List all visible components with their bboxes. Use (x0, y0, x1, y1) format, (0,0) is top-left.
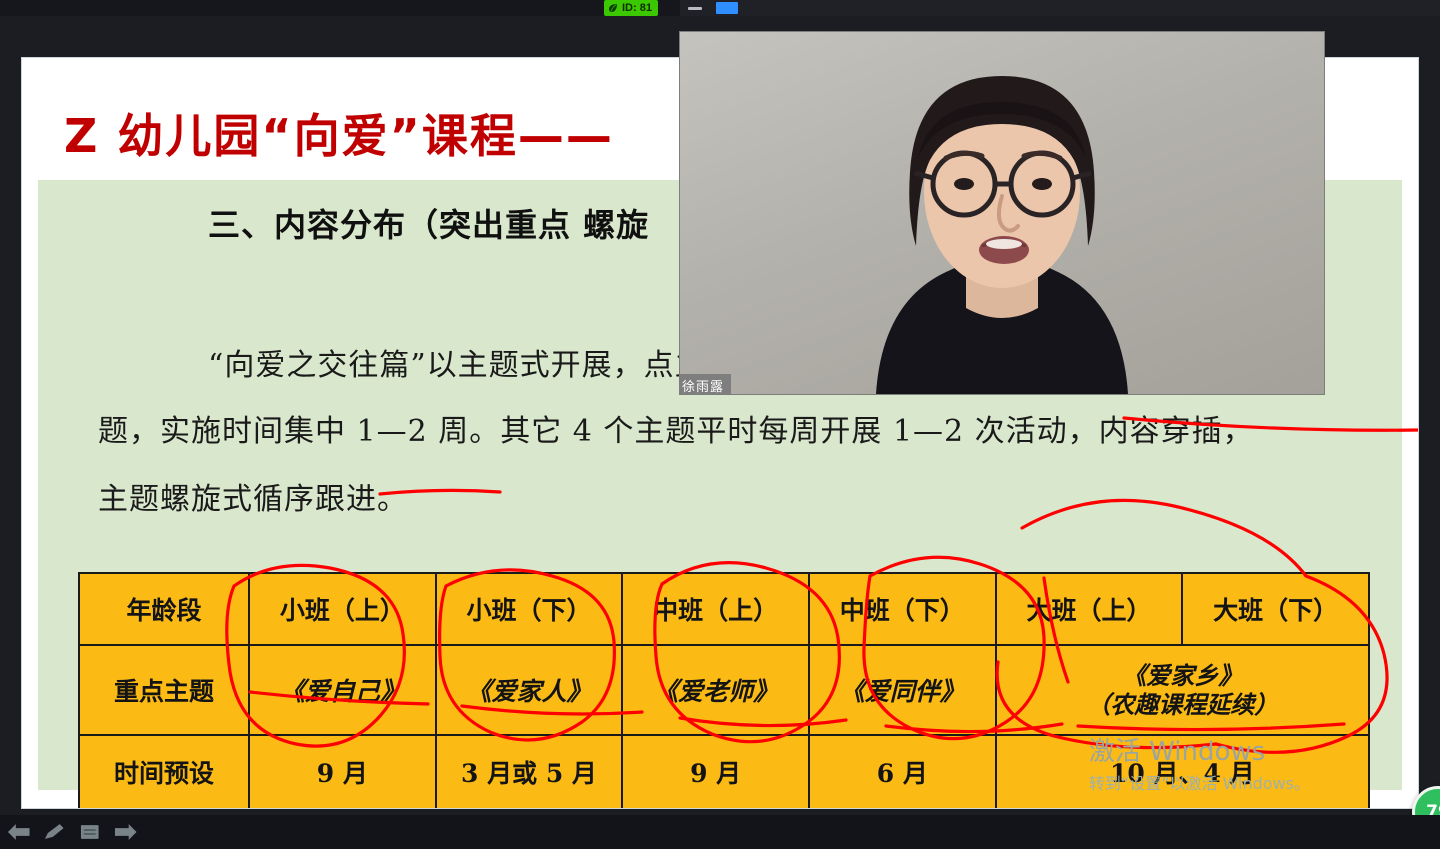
cell-time-1: 9 月 (249, 735, 436, 808)
cell-age-5: 大班（上） (996, 573, 1183, 645)
paragraph-line-3: 主题螺旋式循序跟进。 (98, 474, 408, 518)
split-view-icon[interactable] (752, 2, 770, 14)
cell-theme-merged-line1: 《爱家乡》 (997, 661, 1368, 690)
top-toolbar: ID: 81 (0, 0, 1440, 16)
window-controls (680, 0, 1440, 16)
forward-arrow-icon[interactable] (113, 822, 139, 842)
presenter-video-overlay[interactable]: 徐雨露 (680, 32, 1324, 394)
section-heading: 三、内容分布（突出重点 螺旋 (208, 200, 649, 246)
watermark-line-2: 转到“设置”以激活 Windows。 (1089, 770, 1310, 794)
cell-age-2: 小班（下） (436, 573, 623, 645)
cell-theme-3: 《爱老师》 (622, 645, 809, 735)
paragraph-line-2: 题，实施时间集中 1—2 周。其它 4 个主题平时每周开展 1—2 次活动，内容… (98, 406, 1254, 450)
cell-time-4: 6 月 (809, 735, 996, 808)
pen-icon[interactable] (42, 822, 68, 842)
cell-theme-4: 《爱同伴》 (809, 645, 996, 735)
list-icon[interactable] (77, 822, 103, 842)
presentation-stage: Z 幼儿园“向爱”课程—— 三、内容分布（突出重点 螺旋 “向爱之交往篇”以主题… (0, 16, 1440, 815)
table-row: 重点主题 《爱自己》 《爱家人》 《爱老师》 《爱同伴》 《爱家乡》 （农趣课程… (79, 645, 1369, 735)
cell-age-3: 中班（上） (622, 573, 809, 645)
room-id-badge[interactable]: ID: 81 (604, 0, 658, 16)
cell-theme-merged: 《爱家乡》 （农趣课程延续） (996, 645, 1369, 735)
row-header-theme: 重点主题 (79, 645, 249, 735)
presenter-figure (680, 32, 1324, 394)
table-row: 年龄段 小班（上） 小班（下） 中班（上） 中班（下） 大班（上） 大班（下） (79, 573, 1369, 645)
paragraph-line-1: “向爱之交往篇”以主题式开展，点主 (208, 340, 706, 384)
cell-age-1: 小班（上） (249, 573, 436, 645)
cell-age-6: 大班（下） (1182, 573, 1369, 645)
cell-theme-2: 《爱家人》 (436, 645, 623, 735)
row-header-age: 年龄段 (79, 573, 249, 645)
watermark-line-1: 激活 Windows (1089, 731, 1310, 768)
cell-age-4: 中班（下） (809, 573, 996, 645)
cell-time-3: 9 月 (622, 735, 809, 808)
row-header-time: 时间预设 (79, 735, 249, 808)
grid-view-icon[interactable] (784, 2, 802, 15)
minimize-icon[interactable] (688, 7, 702, 10)
slide-title: Z 幼儿园“向爱”课程—— (64, 100, 614, 166)
presenter-name-label: 徐雨露 (680, 374, 731, 394)
cell-theme-1: 《爱自己》 (249, 645, 436, 735)
windows-activation-watermark: 激活 Windows 转到“设置”以激活 Windows。 (1089, 731, 1310, 794)
room-id-label: ID: 81 (622, 2, 652, 14)
cell-theme-merged-line2: （农趣课程延续） (997, 690, 1368, 719)
back-arrow-icon[interactable] (6, 822, 32, 842)
cell-time-2: 3 月或 5 月 (436, 735, 623, 808)
maximize-icon[interactable] (716, 2, 738, 14)
bottom-tool-group (0, 815, 138, 849)
bottom-toolbar (0, 815, 1440, 849)
leaf-icon (608, 3, 618, 13)
